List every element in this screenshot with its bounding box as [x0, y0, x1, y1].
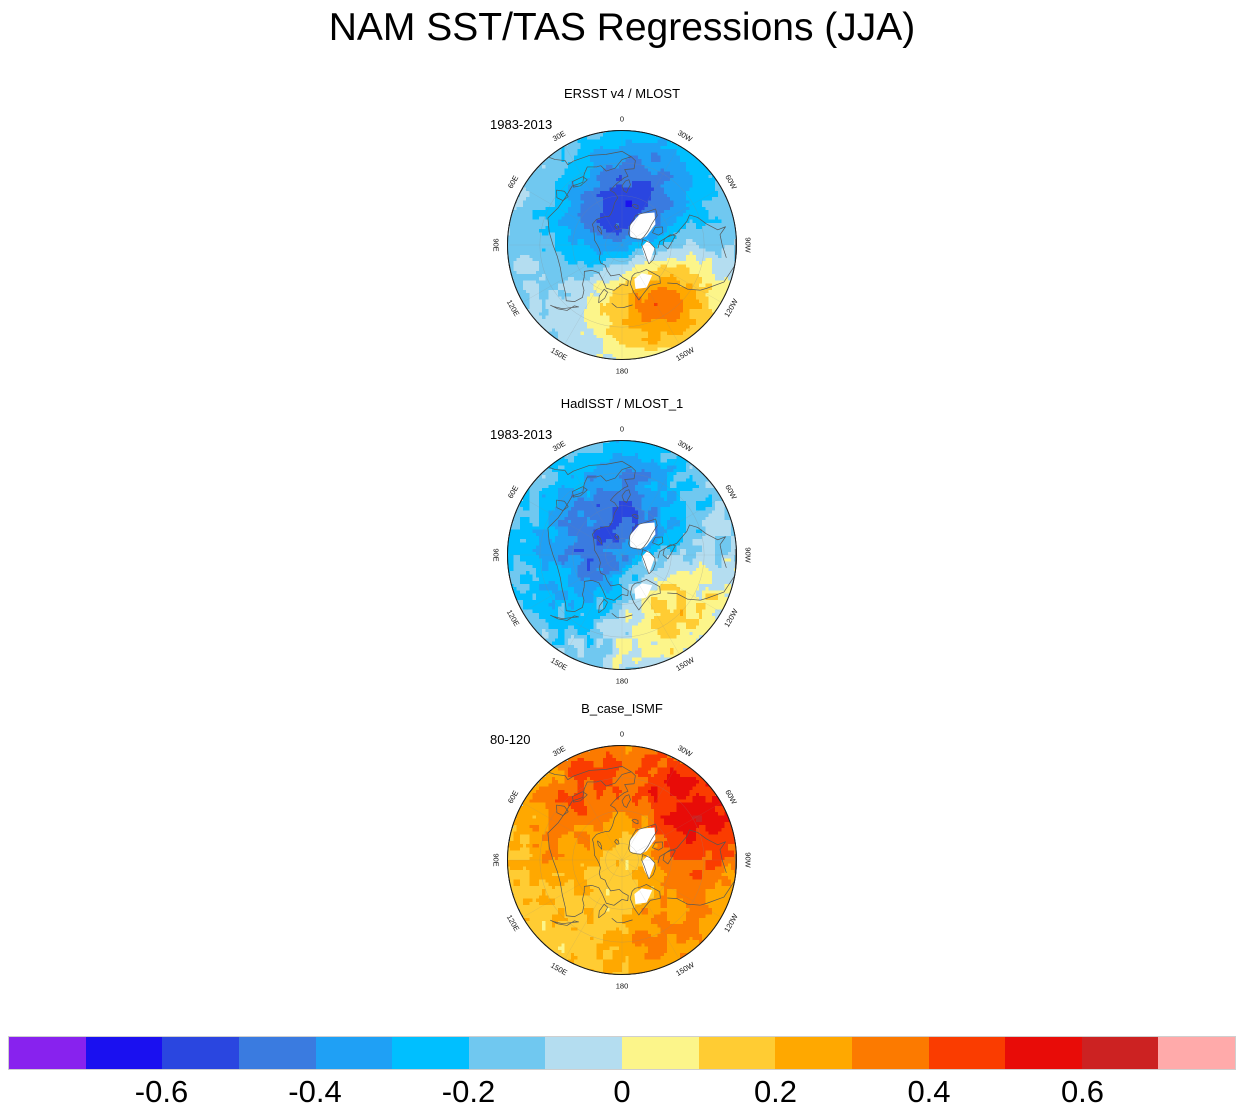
panel-title: B_case_ISMF — [0, 701, 1244, 716]
colorbar — [8, 1036, 1236, 1070]
colorbar-cell — [1005, 1037, 1082, 1069]
colorbar-cell — [1082, 1037, 1159, 1069]
colorbar-cell — [392, 1037, 469, 1069]
longitude-label: 90W — [744, 852, 753, 867]
colorbar-cell — [699, 1037, 776, 1069]
colorbar-cell — [239, 1037, 316, 1069]
page-title: NAM SST/TAS Regressions (JJA) — [0, 4, 1244, 52]
longitude-label: 180 — [616, 982, 629, 991]
colorbar-cell — [622, 1037, 699, 1069]
longitude-label: 90W — [744, 237, 753, 252]
colorbar-cell — [316, 1037, 393, 1069]
colorbar-cell — [469, 1037, 546, 1069]
colorbar-cell — [929, 1037, 1006, 1069]
longitude-label: 0 — [620, 730, 624, 739]
longitude-label: 90W — [744, 547, 753, 562]
polar-map: 180150E120E90E60E30E030W60W90W120W150W — [492, 727, 752, 995]
colorbar-tick-label: -0.6 — [135, 1072, 188, 1112]
map-canvas — [507, 130, 737, 360]
panel-title: HadISST / MLOST_1 — [0, 396, 1244, 411]
longitude-label: 90E — [492, 548, 501, 561]
colorbar-tick-label: 0.2 — [754, 1072, 797, 1112]
longitude-label: 90E — [492, 853, 501, 866]
colorbar-tick-label: -0.4 — [288, 1072, 341, 1112]
panel-title: ERSST v4 / MLOST — [0, 86, 1244, 101]
longitude-label: 0 — [620, 115, 624, 124]
colorbar-cell — [162, 1037, 239, 1069]
colorbar-tick-label: 0.4 — [907, 1072, 950, 1112]
colorbar-cell — [86, 1037, 163, 1069]
colorbar-cell — [1158, 1037, 1235, 1069]
polar-map: 180150E120E90E60E30E030W60W90W120W150W — [492, 112, 752, 380]
colorbar-tick-labels: -0.6-0.4-0.200.20.40.6 — [0, 1072, 1244, 1116]
longitude-label: 180 — [616, 677, 629, 686]
globe-disk — [507, 130, 737, 360]
map-canvas — [507, 440, 737, 670]
colorbar-cell — [852, 1037, 929, 1069]
map-canvas — [507, 745, 737, 975]
longitude-label: 0 — [620, 425, 624, 434]
longitude-label: 180 — [616, 367, 629, 376]
colorbar-tick-label: 0.6 — [1061, 1072, 1104, 1112]
colorbar-tick-label: -0.2 — [442, 1072, 495, 1112]
colorbar-cell — [545, 1037, 622, 1069]
globe-disk — [507, 440, 737, 670]
colorbar-tick-label: 0 — [613, 1072, 630, 1112]
colorbar-cell — [9, 1037, 86, 1069]
longitude-label: 90E — [492, 238, 501, 251]
globe-disk — [507, 745, 737, 975]
polar-map: 180150E120E90E60E30E030W60W90W120W150W — [492, 422, 752, 690]
colorbar-cell — [775, 1037, 852, 1069]
